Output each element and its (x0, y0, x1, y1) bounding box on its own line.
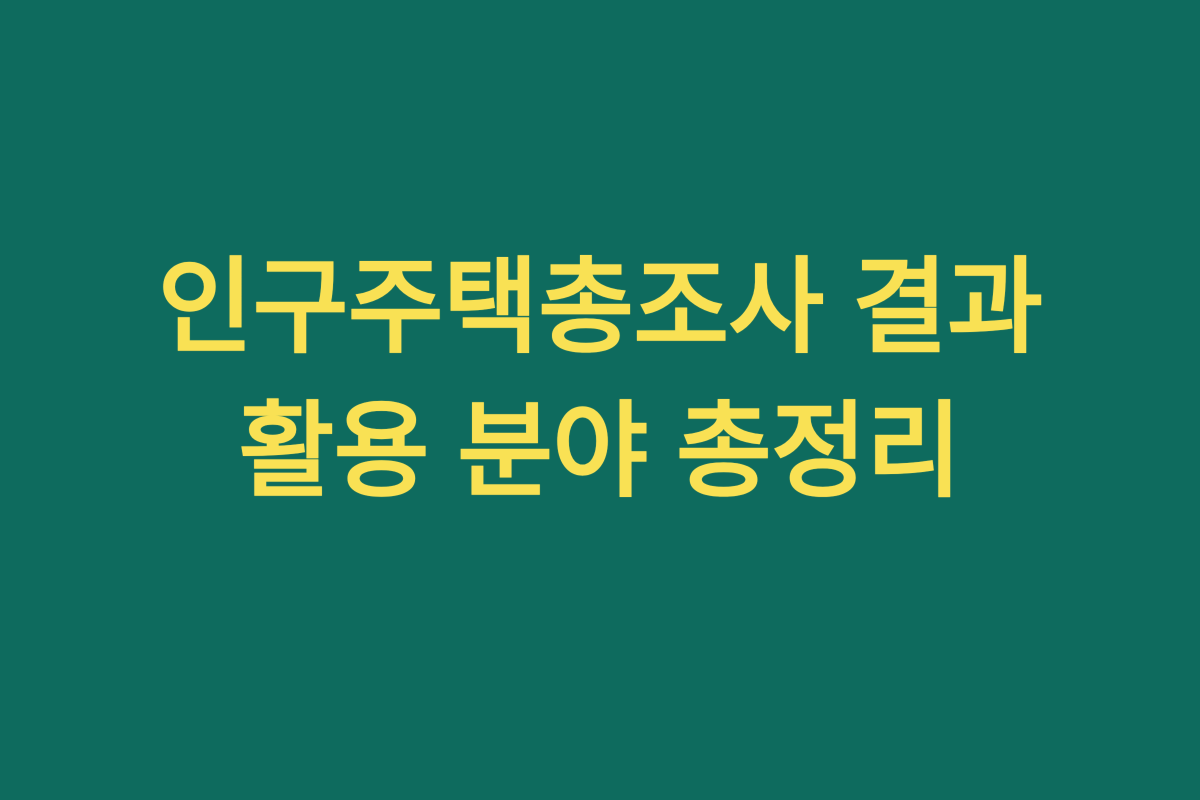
thumbnail-card: 인구주택총조사 결과 활용 분야 총정리 (0, 0, 1200, 800)
headline-block: 인구주택총조사 결과 활용 분야 총정리 (75, 237, 1125, 524)
page-title: 인구주택총조사 결과 활용 분야 총정리 (75, 237, 1125, 524)
